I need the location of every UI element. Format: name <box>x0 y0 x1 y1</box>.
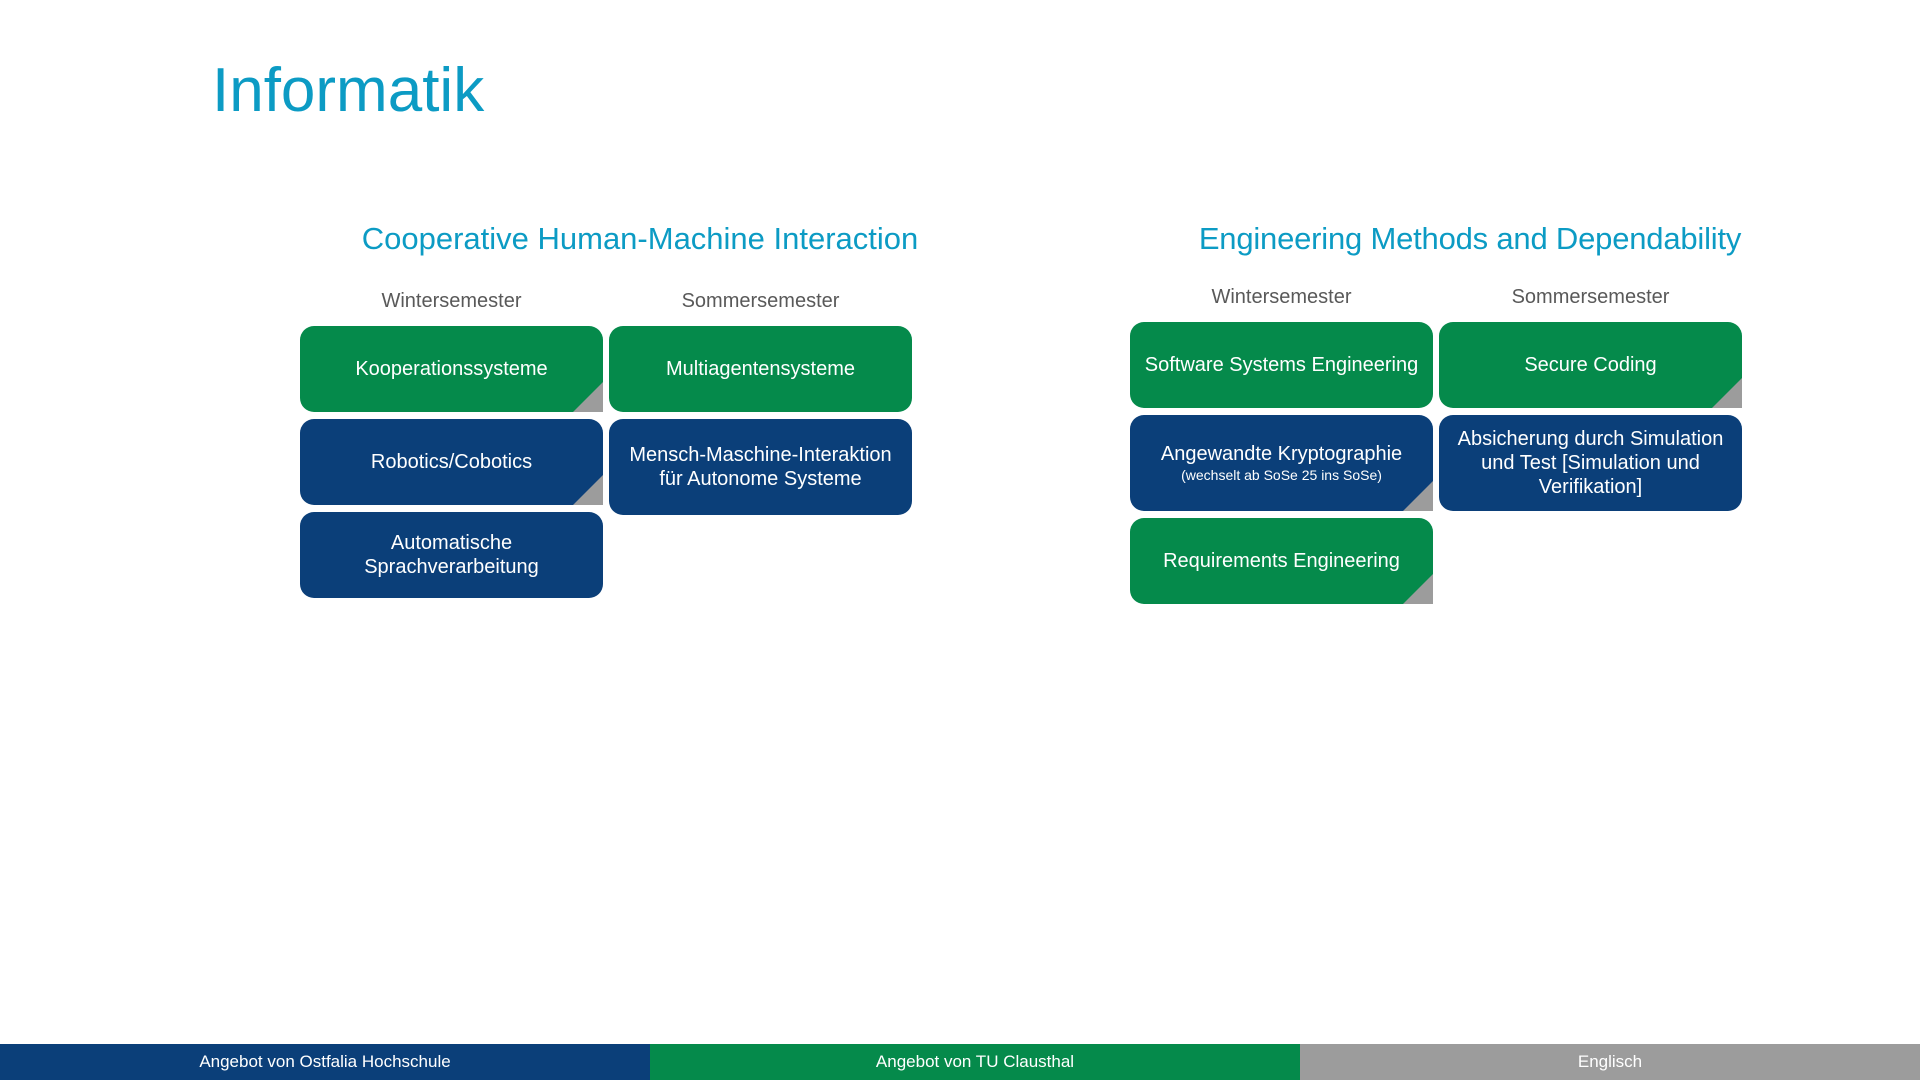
semester-label: Wintersemester <box>300 290 603 312</box>
legend-item-ostfalia: Angebot von Ostfalia Hochschule <box>0 1044 650 1080</box>
group-engineering-methods-and-dependability: Engineering Methods and Dependability Wi… <box>1130 222 1810 611</box>
legend-item-englisch: Englisch <box>1300 1044 1920 1080</box>
course-title: Angewandte Kryptographie(wechselt ab SoS… <box>1161 442 1402 484</box>
course-card[interactable]: Secure Coding <box>1439 322 1742 408</box>
semester-label: Sommersemester <box>1439 286 1742 308</box>
column-sommersemester: Sommersemester Multiagentensysteme Mensc… <box>609 290 912 605</box>
course-card[interactable]: Robotics/Cobotics <box>300 419 603 505</box>
column-sommersemester: Sommersemester Secure Coding Absicherung… <box>1439 286 1742 611</box>
legend-label: Angebot von Ostfalia Hochschule <box>199 1052 450 1072</box>
legend-bar: Angebot von Ostfalia Hochschule Angebot … <box>0 1044 1920 1080</box>
semester-label: Sommersemester <box>609 290 912 312</box>
course-card[interactable]: Automatische Sprachverarbeitung <box>300 512 603 598</box>
legend-label: Angebot von TU Clausthal <box>876 1052 1074 1072</box>
course-card[interactable]: Kooperationssysteme <box>300 326 603 412</box>
course-title: Secure Coding <box>1524 353 1656 377</box>
course-card[interactable]: Multiagentensysteme <box>609 326 912 412</box>
course-card[interactable]: Mensch-Maschine-Interaktion für Autonome… <box>609 419 912 515</box>
course-title: Robotics/Cobotics <box>371 450 532 474</box>
corner-marker-icon <box>1712 378 1742 408</box>
semester-columns: Wintersemester Software Systems Engineer… <box>1130 286 1810 611</box>
corner-marker-icon <box>573 382 603 412</box>
course-card[interactable]: Absicherung durch Simulation und Test [S… <box>1439 415 1742 511</box>
course-card[interactable]: Angewandte Kryptographie(wechselt ab SoS… <box>1130 415 1433 511</box>
course-card[interactable]: Software Systems Engineering <box>1130 322 1433 408</box>
legend-item-tu-clausthal: Angebot von TU Clausthal <box>650 1044 1300 1080</box>
group-cooperative-human-machine-interaction: Cooperative Human-Machine Interaction Wi… <box>300 222 980 605</box>
column-wintersemester: Wintersemester Kooperationssysteme Robot… <box>300 290 603 605</box>
legend-label: Englisch <box>1578 1052 1642 1072</box>
course-title: Kooperationssysteme <box>355 357 547 381</box>
semester-label: Wintersemester <box>1130 286 1433 308</box>
course-card[interactable]: Requirements Engineering <box>1130 518 1433 604</box>
course-title: Software Systems Engineering <box>1145 353 1418 377</box>
group-title: Cooperative Human-Machine Interaction <box>300 222 980 256</box>
corner-marker-icon <box>1403 481 1433 511</box>
column-wintersemester: Wintersemester Software Systems Engineer… <box>1130 286 1433 611</box>
course-title: Requirements Engineering <box>1163 549 1400 573</box>
course-title: Absicherung durch Simulation und Test [S… <box>1451 427 1730 500</box>
page-title: Informatik <box>212 60 484 122</box>
course-title: Multiagentensysteme <box>666 357 855 381</box>
course-title: Automatische Sprachverarbeitung <box>312 531 591 580</box>
course-subtitle: (wechselt ab SoSe 25 ins SoSe) <box>1161 467 1402 484</box>
semester-columns: Wintersemester Kooperationssysteme Robot… <box>300 290 980 605</box>
group-title: Engineering Methods and Dependability <box>1130 222 1810 256</box>
corner-marker-icon <box>573 475 603 505</box>
corner-marker-icon <box>1403 574 1433 604</box>
slide-canvas: Informatik Cooperative Human-Machine Int… <box>0 0 1920 1080</box>
course-title: Mensch-Maschine-Interaktion für Autonome… <box>621 443 900 492</box>
